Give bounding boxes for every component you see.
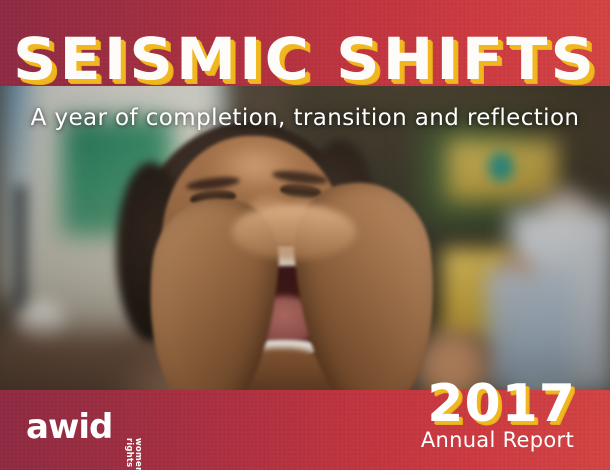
awid-tagline-line-2: rights [124, 438, 133, 470]
page-subtitle: A year of completion, transition and ref… [0, 105, 610, 131]
subject-knuckles [232, 204, 356, 260]
awid-logo[interactable]: awid women's rights [26, 414, 159, 442]
report-label: Annual Report [421, 428, 574, 452]
annual-report-cover: SEISMIC SHIFTS A year of completion, tra… [0, 0, 610, 470]
page-title: SEISMIC SHIFTS [0, 30, 610, 88]
report-year: 2017 [427, 378, 576, 430]
awid-tagline-line-1: women's [133, 438, 142, 470]
awid-wordmark: awid [26, 414, 112, 442]
awid-tagline: women's rights [124, 438, 142, 470]
